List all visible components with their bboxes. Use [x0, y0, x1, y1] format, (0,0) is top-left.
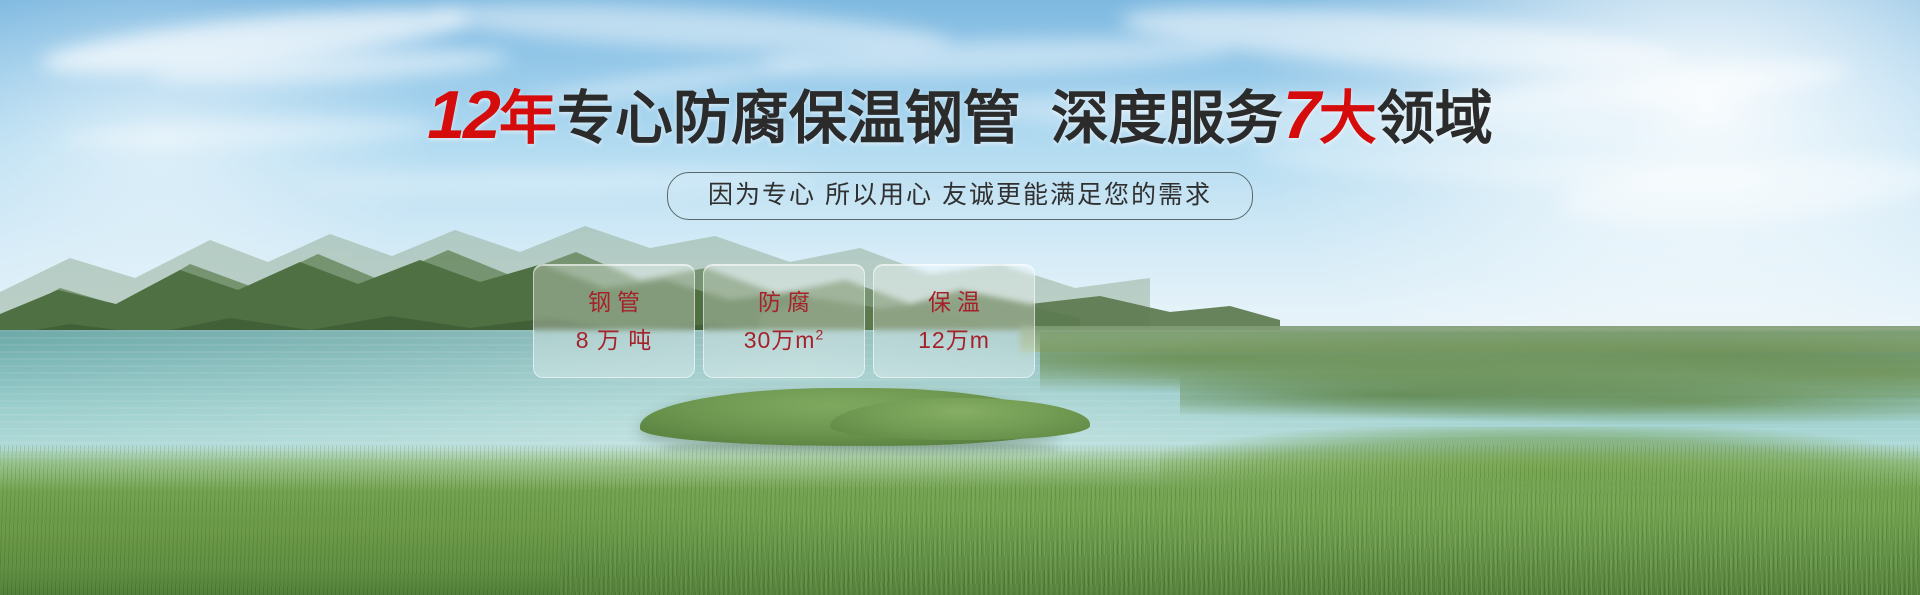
- stat-card-title: 保温: [922, 289, 986, 315]
- stat-card-value: 30万m2: [744, 327, 825, 353]
- stat-card-title: 防腐: [752, 289, 816, 315]
- stat-card-value: 12万m: [918, 327, 990, 353]
- stat-card-value-superscript: 2: [815, 326, 824, 342]
- banner-subtitle-wrapper: 因为专心 所以用心 友诚更能满足您的需求: [0, 172, 1920, 220]
- hero-banner: 12年专心防腐保温钢管深度服务7大领域 因为专心 所以用心 友诚更能满足您的需求…: [0, 0, 1920, 595]
- headline-service-text: 深度服务: [1051, 86, 1283, 151]
- stat-card-value: 8 万 吨: [576, 327, 653, 353]
- stat-card-value-text: 30万m: [744, 327, 816, 353]
- stat-card-group: 钢管 8 万 吨 防腐 30万m2 保温 12万m: [533, 264, 1035, 378]
- stat-card-value-text: 8 万 吨: [576, 327, 653, 353]
- banner-subtitle-pill: 因为专心 所以用心 友诚更能满足您的需求: [667, 172, 1253, 220]
- headline-years-unit: 年: [499, 86, 557, 151]
- stat-card-steel-pipe: 钢管 8 万 吨: [533, 264, 695, 378]
- headline-fields-tail: 领域: [1377, 86, 1493, 151]
- banner-content: 12年专心防腐保温钢管深度服务7大领域 因为专心 所以用心 友诚更能满足您的需求…: [0, 0, 1920, 595]
- headline-fields-number: 7: [1283, 77, 1319, 153]
- headline-fields-unit: 大: [1319, 86, 1377, 151]
- stat-card-value-text: 12万m: [918, 327, 990, 353]
- stat-card-insulation: 保温 12万m: [873, 264, 1035, 378]
- headline-main-text: 专心防腐保温钢管: [557, 86, 1021, 151]
- stat-card-anticorrosion: 防腐 30万m2: [703, 264, 865, 378]
- headline-years-number: 12: [427, 77, 499, 153]
- banner-headline: 12年专心防腐保温钢管深度服务7大领域: [0, 84, 1920, 150]
- stat-card-title: 钢管: [582, 289, 646, 315]
